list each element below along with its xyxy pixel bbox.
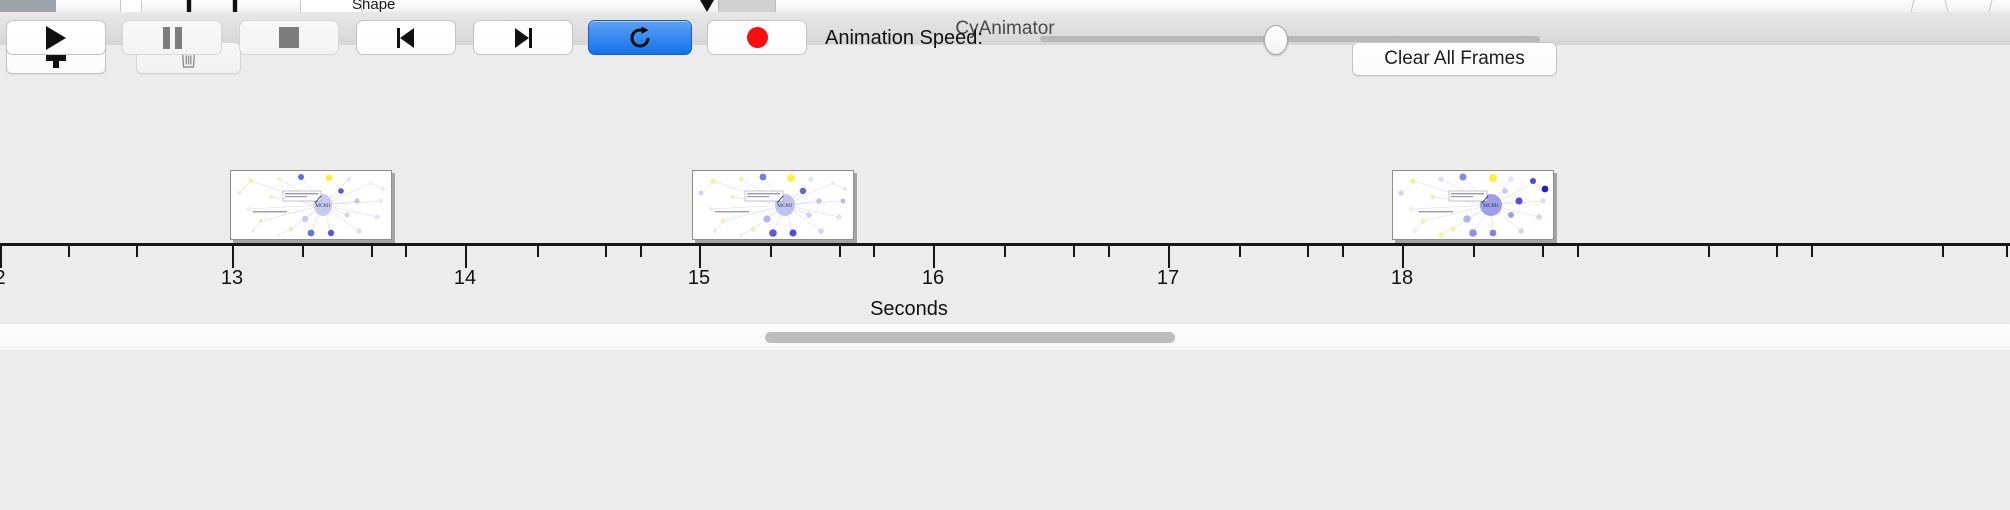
ruler-tick-minor bbox=[1073, 246, 1075, 257]
ruler-tick-minor bbox=[1473, 246, 1475, 257]
slider-thumb[interactable] bbox=[1264, 25, 1288, 55]
ruler-tick-label: 15 bbox=[688, 267, 710, 290]
ruler-tick-minor bbox=[1577, 246, 1579, 257]
ruler-tick-major bbox=[465, 246, 467, 268]
ruler-tick-minor bbox=[839, 246, 841, 257]
background-notch-icon bbox=[700, 0, 714, 12]
play-icon bbox=[46, 26, 66, 50]
ruler-tick-minor bbox=[405, 246, 407, 257]
background-segment bbox=[1989, 0, 1993, 12]
background-segment bbox=[186, 0, 192, 12]
network-thumbnail: MCM1 bbox=[1393, 171, 1553, 239]
ruler-tick-major bbox=[1402, 246, 1404, 268]
network-thumbnail: MCM1 bbox=[231, 171, 391, 239]
ruler-tick-major bbox=[0, 246, 2, 268]
pause-icon bbox=[163, 27, 182, 49]
ruler-tick-minor bbox=[371, 246, 373, 257]
ruler-tick-minor bbox=[1108, 246, 1110, 257]
network-thumbnail: MCM1 bbox=[693, 171, 853, 239]
ruler-tick-minor bbox=[2006, 246, 2008, 257]
ruler-tick-minor bbox=[136, 246, 138, 257]
ruler-axis-title: Seconds bbox=[0, 298, 1818, 321]
background-tab-active bbox=[0, 0, 56, 12]
last-frame-button[interactable] bbox=[473, 20, 573, 55]
ruler-tick-major bbox=[232, 246, 234, 268]
timeline-ruler[interactable]: 2131415161718 Seconds bbox=[0, 243, 2010, 315]
loop-icon bbox=[627, 25, 653, 51]
ruler-tick-major bbox=[699, 246, 701, 268]
ruler-tick-minor bbox=[302, 246, 304, 257]
ruler-tick-major bbox=[933, 246, 935, 268]
record-icon bbox=[747, 27, 768, 48]
ruler-tick-label: 2 bbox=[0, 267, 6, 290]
slider-track bbox=[1040, 36, 1540, 42]
ruler-tick-minor bbox=[537, 246, 539, 257]
ruler-tick-minor bbox=[1942, 246, 1944, 257]
ruler-tick-minor bbox=[1776, 246, 1778, 257]
timeline-horizontal-scrollbar[interactable] bbox=[0, 323, 2010, 351]
playback-toolbar bbox=[0, 350, 2010, 510]
ruler-tick-label: 13 bbox=[221, 267, 243, 290]
ruler-tick-minor bbox=[1307, 246, 1309, 257]
background-segment bbox=[1945, 0, 1949, 12]
ruler-tick-minor bbox=[1342, 246, 1344, 257]
record-button[interactable] bbox=[707, 20, 807, 55]
ruler-tick-label: 17 bbox=[1157, 267, 1179, 290]
ruler-tick-major bbox=[1168, 246, 1170, 268]
frame-center-node-label: MCM1 bbox=[1483, 203, 1499, 209]
timeline-frame-3[interactable]: MCM1 bbox=[1392, 170, 1554, 240]
background-grey-tab bbox=[718, 0, 776, 12]
timeline-frame-2[interactable]: MCM1 bbox=[692, 170, 854, 240]
ruler-tick-minor bbox=[1004, 246, 1006, 257]
ruler-tick-minor bbox=[873, 246, 875, 257]
frame-center-node-label: MCM1 bbox=[777, 203, 793, 209]
ruler-tick-minor bbox=[605, 246, 607, 257]
frame-center-node-label: MCM1 bbox=[315, 203, 331, 209]
pause-button[interactable] bbox=[122, 20, 222, 55]
first-frame-button[interactable] bbox=[356, 20, 456, 55]
animation-speed-slider[interactable] bbox=[1040, 36, 1540, 42]
ruler-tick-minor bbox=[1708, 246, 1710, 257]
stop-icon bbox=[279, 27, 299, 48]
ruler-tick-minor bbox=[68, 246, 70, 257]
ruler-tick-minor bbox=[640, 246, 642, 257]
ruler-tick-minor bbox=[770, 246, 772, 257]
background-segment bbox=[120, 0, 142, 12]
animation-speed-label: Animation Speed: bbox=[825, 27, 983, 50]
clear-all-frames-button[interactable]: Clear All Frames bbox=[1352, 42, 1557, 76]
stop-button[interactable] bbox=[239, 20, 339, 55]
skip-forward-icon bbox=[512, 26, 534, 50]
ruler-tick-minor bbox=[1239, 246, 1241, 257]
ruler-tick-label: 16 bbox=[922, 267, 944, 290]
ruler-tick-minor bbox=[1542, 246, 1544, 257]
ruler-tick-minor bbox=[1811, 246, 1813, 257]
background-segment bbox=[232, 0, 238, 12]
scrollbar-thumb[interactable] bbox=[765, 332, 1175, 343]
play-button[interactable] bbox=[6, 20, 106, 55]
timeline-frame-1[interactable]: MCM1 bbox=[230, 170, 392, 240]
skip-back-icon bbox=[395, 26, 417, 50]
ruler-tick-label: 18 bbox=[1391, 267, 1413, 290]
background-segment bbox=[1911, 0, 1915, 12]
ruler-tick-label: 14 bbox=[454, 267, 476, 290]
loop-button[interactable] bbox=[588, 20, 692, 55]
